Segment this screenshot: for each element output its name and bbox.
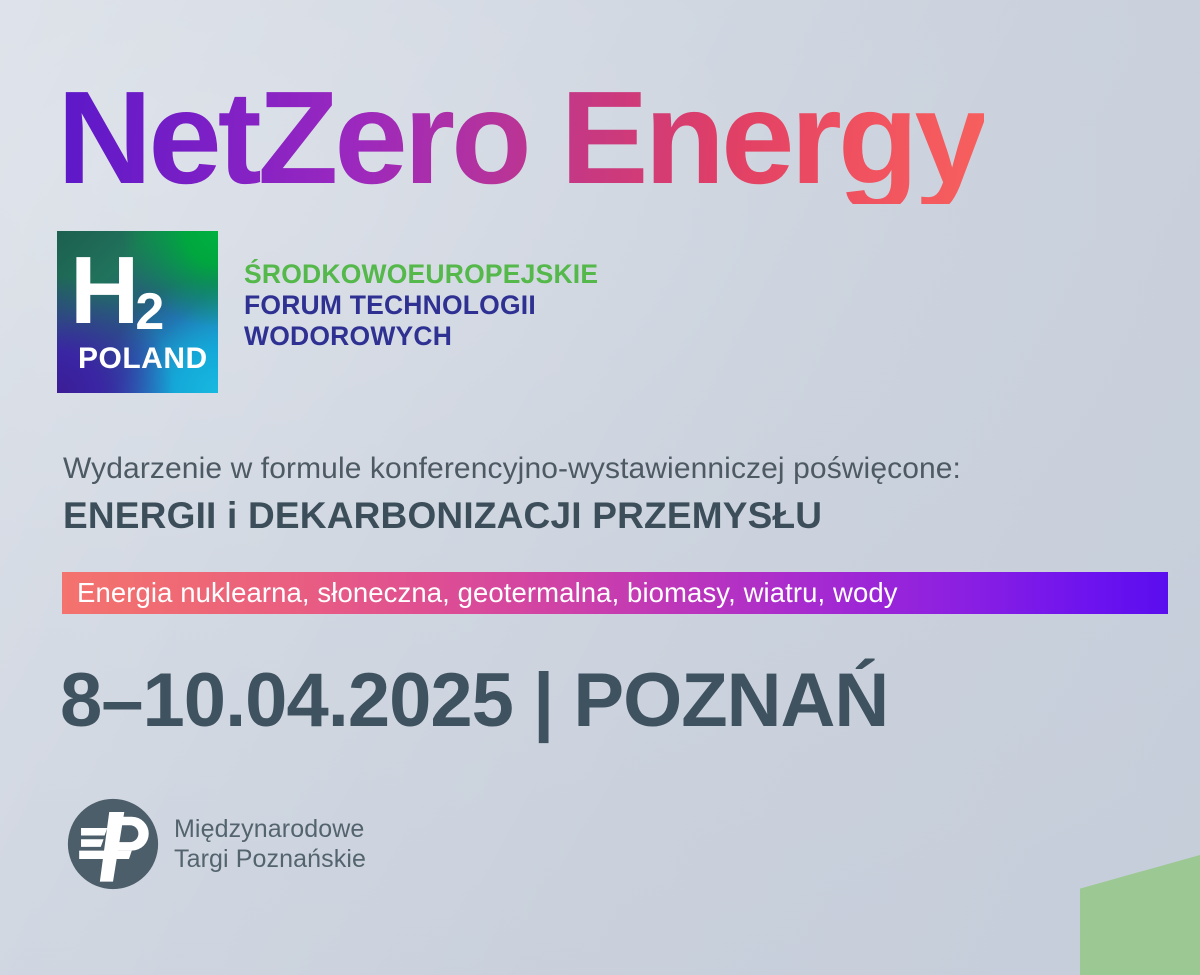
energy-topics-bar: Energia nuklearna, słoneczna, geotermaln…	[62, 572, 1168, 614]
description-lead: Wydarzenie w formule konferencyjno-wysta…	[63, 452, 961, 486]
h2-subscript: 2	[135, 283, 162, 341]
mtp-logo-icon	[66, 797, 160, 891]
h2-poland-logo: H2 POLAND	[57, 231, 218, 393]
description-block: Wydarzenie w formule konferencyjno-wysta…	[63, 452, 961, 537]
page-title: NetZero Energy	[57, 72, 984, 204]
description-emphasis: ENERGII i DEKARBONIZACJI PRZEMYSŁU	[63, 495, 961, 537]
brand-lockup: H2 POLAND ŚRODKOWOEUROPEJSKIE FORUM TECH…	[57, 231, 598, 393]
h2-element-letter: H	[70, 237, 137, 344]
poster-canvas: NetZero Energy H2 POLAND ŚRODKOWOEUROPEJ…	[0, 0, 1200, 975]
h2-formula: H2	[70, 243, 164, 339]
energy-topics-text: Energia nuklearna, słoneczna, geotermaln…	[77, 577, 898, 609]
h2-country-label: POLAND	[78, 344, 208, 374]
brand-subtitle: ŚRODKOWOEUROPEJSKIE FORUM TECHNOLOGII WO…	[244, 259, 598, 352]
organizer-logo-lockup: Międzynarodowe Targi Poznańskie	[66, 797, 366, 891]
brand-subtitle-line-2: FORUM TECHNOLOGII	[244, 290, 598, 321]
brand-subtitle-line-1: ŚRODKOWOEUROPEJSKIE	[244, 259, 598, 290]
organizer-name: Międzynarodowe Targi Poznańskie	[174, 814, 366, 875]
brand-subtitle-line-3: WODOROWYCH	[244, 321, 598, 352]
organizer-name-line-2: Targi Poznańskie	[174, 844, 366, 875]
event-date-and-city: 8–10.04.2025 | POZNAŃ	[60, 657, 888, 744]
organizer-name-line-1: Międzynarodowe	[174, 814, 366, 845]
corner-accent-shape	[1080, 855, 1200, 975]
